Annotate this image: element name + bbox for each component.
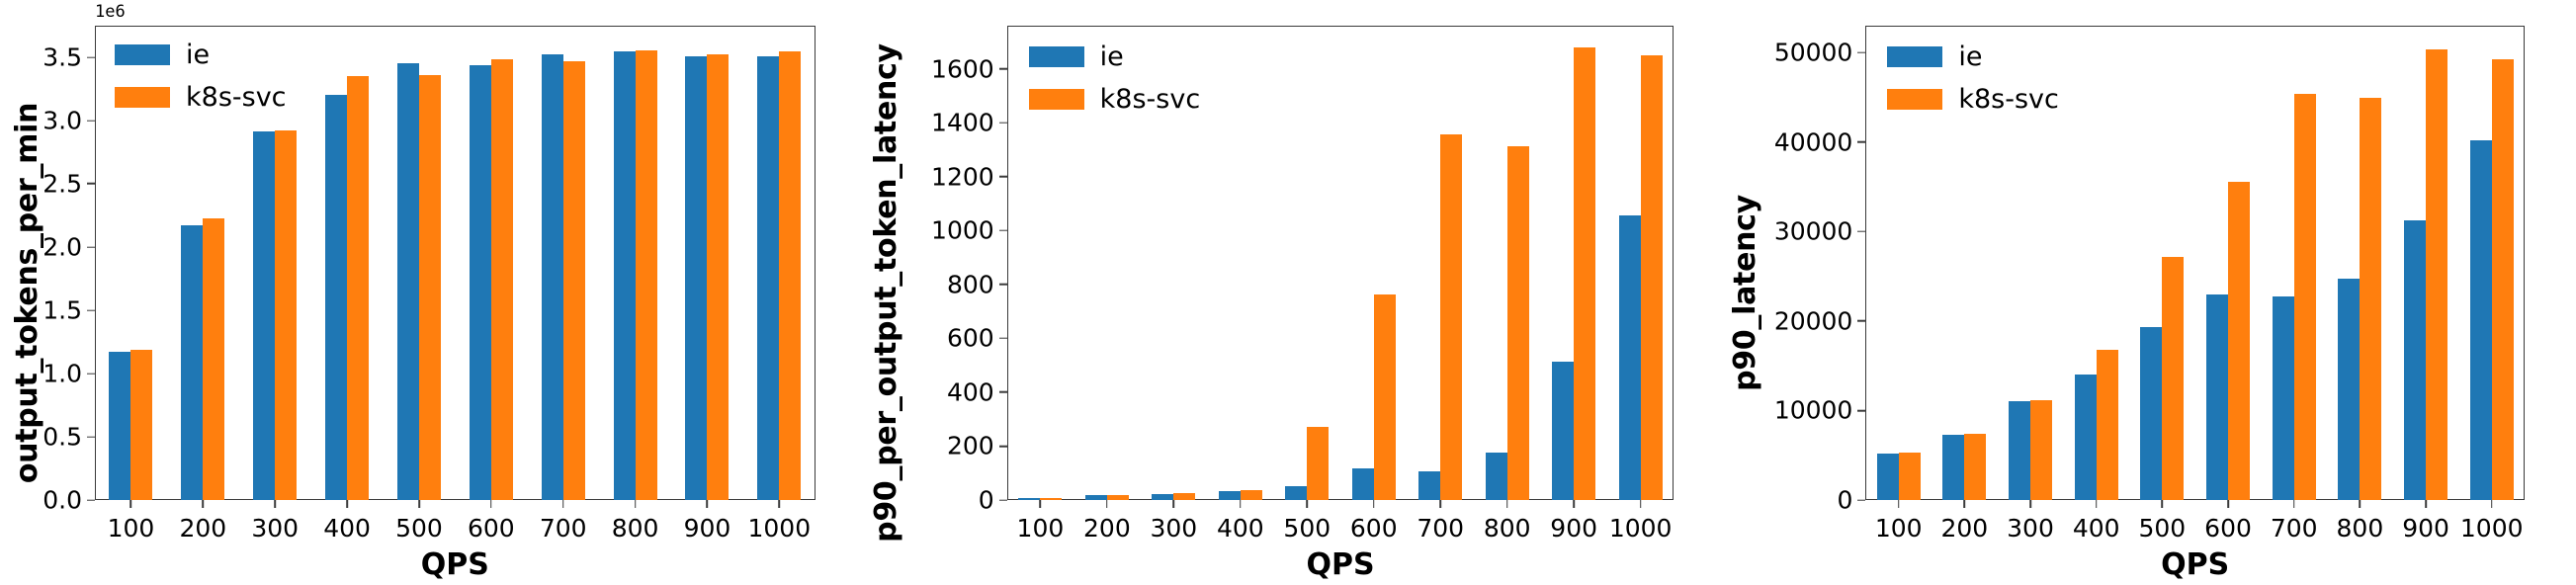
- y-tick-label: 0.0: [43, 486, 95, 515]
- y-tick-label: 50000: [1774, 39, 1866, 67]
- y-tick-label: 1600: [931, 54, 1007, 83]
- x-tick-label: 700: [527, 500, 599, 543]
- bar-group: [1407, 26, 1473, 500]
- y-axis-label: p90_per_output_token_latency: [859, 0, 914, 585]
- x-tick-label: 1000: [1607, 500, 1674, 543]
- bar-k8s-svc-1000[interactable]: [2492, 59, 2514, 500]
- panel-output-tokens-per-min: output_tokens_per_min 1e6 0.00.51.01.52.…: [0, 0, 859, 585]
- legend-swatch-ie: [1887, 46, 1942, 67]
- bar-ie-600[interactable]: [2206, 294, 2228, 500]
- bar-ie-200[interactable]: [1942, 435, 1964, 500]
- legend-label-ie: ie: [186, 40, 210, 70]
- y-tick-label: 0: [1837, 486, 1865, 515]
- x-axis-label-2: QPS: [1007, 547, 1674, 582]
- x-tick-label: 900: [671, 500, 743, 543]
- y-tick-label: 400: [947, 377, 1007, 406]
- x-tick-label: 1000: [2458, 500, 2525, 543]
- x-tick-label: 1000: [743, 500, 816, 543]
- bar-k8s-svc-600[interactable]: [491, 59, 513, 500]
- y-tick-label: 0.5: [43, 423, 95, 452]
- y-tick-label: 20000: [1774, 306, 1866, 335]
- bar-k8s-svc-300[interactable]: [2030, 400, 2052, 500]
- bar-group: [2327, 26, 2393, 500]
- panel-p90-latency: p90_latency 01000020000300004000050000 1…: [1717, 0, 2576, 585]
- bar-group: [1274, 26, 1340, 500]
- y-tick-label: 40000: [1774, 127, 1866, 156]
- plot-area-2: 02004006008001000120014001600 1002003004…: [1007, 26, 1674, 500]
- y-tick-label: 200: [947, 432, 1007, 460]
- bar-ie-500[interactable]: [1285, 486, 1307, 500]
- legend-entry-k8s-svc[interactable]: k8s-svc: [1029, 84, 1201, 115]
- bar-group: [2393, 26, 2459, 500]
- legend-label-k8s-svc: k8s-svc: [1958, 84, 2059, 115]
- bar-k8s-svc-300[interactable]: [275, 130, 297, 500]
- bar-k8s-svc-800[interactable]: [1507, 146, 1529, 500]
- bar-group: [2063, 26, 2129, 500]
- bar-group: [2129, 26, 2195, 500]
- bar-k8s-svc-500[interactable]: [419, 75, 441, 500]
- x-tick-label: 100: [1007, 500, 1073, 543]
- x-tick-label: 400: [311, 500, 384, 543]
- bar-ie-1000[interactable]: [1619, 215, 1641, 500]
- x-tick-label: 400: [1207, 500, 1273, 543]
- plot-area-1: 1e6 0.00.51.01.52.02.53.03.5 10020030040…: [95, 26, 816, 500]
- bar-k8s-svc-400[interactable]: [1241, 490, 1262, 500]
- bar-group: [2195, 26, 2262, 500]
- legend-swatch-ie: [115, 44, 170, 65]
- y-tick-label: 3.5: [43, 43, 95, 72]
- x-tick-labels-2: 1002003004005006007008009001000: [1007, 500, 1674, 543]
- x-tick-label: 500: [1274, 500, 1340, 543]
- x-tick-label: 700: [1407, 500, 1473, 543]
- y-tick-label: 600: [947, 324, 1007, 353]
- y-tick-label: 800: [947, 270, 1007, 298]
- legend-entry-ie[interactable]: ie: [115, 40, 287, 70]
- bar-group: [384, 26, 456, 500]
- bar-k8s-svc-700[interactable]: [563, 61, 585, 500]
- x-tick-label: 200: [167, 500, 239, 543]
- x-tick-labels-1: 1002003004005006007008009001000: [95, 500, 816, 543]
- x-tick-label: 300: [239, 500, 311, 543]
- bar-k8s-svc-200[interactable]: [1964, 434, 1986, 500]
- y-tick-label: 1.0: [43, 360, 95, 388]
- bar-ie-100[interactable]: [109, 352, 130, 500]
- bar-ie-600[interactable]: [470, 65, 491, 500]
- bar-group: [527, 26, 599, 500]
- x-tick-label: 600: [455, 500, 527, 543]
- bar-k8s-svc-100[interactable]: [1899, 453, 1921, 500]
- y-tick-label: 1.5: [43, 296, 95, 325]
- bar-ie-400[interactable]: [325, 95, 347, 500]
- y-tick-label: 3.0: [43, 107, 95, 135]
- bar-ie-200[interactable]: [181, 225, 203, 500]
- bar-group: [455, 26, 527, 500]
- x-tick-label: 900: [1540, 500, 1606, 543]
- bar-k8s-svc-900[interactable]: [707, 54, 729, 500]
- x-tick-label: 400: [2063, 500, 2129, 543]
- bar-group: [1340, 26, 1407, 500]
- y-tick-label: 2.0: [43, 233, 95, 262]
- legend-3: iek8s-svc: [1887, 42, 2059, 115]
- bar-group: [743, 26, 816, 500]
- x-tick-label: 800: [1474, 500, 1540, 543]
- y-axis-label-text: output_tokens_per_min: [11, 102, 45, 482]
- x-tick-label: 500: [384, 500, 456, 543]
- bar-k8s-svc-800[interactable]: [636, 50, 657, 500]
- bar-ie-400[interactable]: [1219, 491, 1241, 500]
- y-axis-label: p90_latency: [1717, 0, 1772, 585]
- bar-k8s-svc-400[interactable]: [2097, 350, 2118, 500]
- x-tick-label: 300: [1141, 500, 1207, 543]
- bar-ie-100[interactable]: [1877, 454, 1899, 500]
- bar-group: [671, 26, 743, 500]
- x-tick-labels-3: 1002003004005006007008009001000: [1865, 500, 2525, 543]
- bar-ie-700[interactable]: [1418, 471, 1440, 500]
- bar-group: [1474, 26, 1540, 500]
- legend-entry-ie[interactable]: ie: [1887, 42, 2059, 72]
- bar-group: [311, 26, 384, 500]
- x-tick-label: 900: [2393, 500, 2459, 543]
- bar-group: [1607, 26, 1674, 500]
- legend-label-k8s-svc: k8s-svc: [186, 82, 287, 113]
- x-tick-label: 500: [2129, 500, 2195, 543]
- panel-p90-per-output-token-latency: p90_per_output_token_latency 02004006008…: [859, 0, 1718, 585]
- bar-k8s-svc-600[interactable]: [1374, 294, 1396, 500]
- x-axis-label-1: QPS: [95, 547, 816, 582]
- x-tick-label: 600: [1340, 500, 1407, 543]
- x-tick-label: 600: [2195, 500, 2262, 543]
- bar-ie-900[interactable]: [1552, 362, 1574, 500]
- bar-k8s-svc-500[interactable]: [1307, 427, 1329, 500]
- bar-k8s-svc-400[interactable]: [347, 76, 369, 500]
- y-axis-label-text: p90_latency: [1728, 195, 1762, 391]
- x-tick-label: 700: [2261, 500, 2327, 543]
- bar-ie-800[interactable]: [614, 51, 636, 500]
- figure: output_tokens_per_min 1e6 0.00.51.01.52.…: [0, 0, 2576, 585]
- x-tick-label: 100: [95, 500, 167, 543]
- bar-ie-1000[interactable]: [757, 56, 779, 500]
- y-tick-label: 10000: [1774, 396, 1866, 425]
- x-tick-label: 800: [599, 500, 671, 543]
- x-tick-label: 200: [1073, 500, 1140, 543]
- bar-ie-1000[interactable]: [2470, 140, 2492, 500]
- bar-k8s-svc-500[interactable]: [2162, 257, 2184, 500]
- legend-swatch-k8s-svc: [1887, 89, 1942, 110]
- legend-1: iek8s-svc: [115, 40, 287, 113]
- x-axis-label-3: QPS: [1865, 547, 2525, 582]
- y-tick-label: 30000: [1774, 217, 1866, 246]
- bar-k8s-svc-1000[interactable]: [1641, 55, 1663, 500]
- bar-ie-300[interactable]: [253, 131, 275, 500]
- bar-k8s-svc-900[interactable]: [2426, 49, 2447, 500]
- bar-k8s-svc-600[interactable]: [2228, 182, 2250, 500]
- bar-ie-900[interactable]: [2404, 220, 2426, 500]
- bar-ie-600[interactable]: [1352, 468, 1374, 500]
- legend-entry-k8s-svc[interactable]: k8s-svc: [115, 82, 287, 113]
- legend-swatch-k8s-svc: [1029, 89, 1084, 110]
- bar-k8s-svc-1000[interactable]: [779, 51, 801, 500]
- bar-ie-900[interactable]: [685, 56, 707, 500]
- y-tick-label: 1400: [931, 109, 1007, 137]
- legend-entry-k8s-svc[interactable]: k8s-svc: [1887, 84, 2059, 115]
- x-tick-label: 300: [1998, 500, 2064, 543]
- legend-swatch-ie: [1029, 46, 1084, 67]
- bar-k8s-svc-100[interactable]: [130, 350, 152, 500]
- bar-ie-800[interactable]: [2338, 279, 2360, 500]
- y-axis-offset-text: 1e6: [95, 2, 126, 22]
- bar-ie-500[interactable]: [397, 63, 419, 500]
- legend-label-ie: ie: [1100, 42, 1124, 72]
- x-tick-label: 100: [1865, 500, 1932, 543]
- legend-2: iek8s-svc: [1029, 42, 1201, 115]
- y-tick-label: 2.5: [43, 169, 95, 198]
- legend-label-k8s-svc: k8s-svc: [1100, 84, 1201, 115]
- bar-k8s-svc-700[interactable]: [2294, 94, 2316, 500]
- y-axis-label-text: p90_per_output_token_latency: [869, 43, 903, 543]
- plot-area-3: 01000020000300004000050000 1002003004005…: [1865, 26, 2525, 500]
- bar-group: [2458, 26, 2525, 500]
- bar-group: [1540, 26, 1606, 500]
- bar-k8s-svc-200[interactable]: [203, 218, 224, 500]
- x-tick-label: 200: [1932, 500, 1998, 543]
- bar-ie-700[interactable]: [2273, 296, 2294, 500]
- bar-group: [599, 26, 671, 500]
- bar-group: [2261, 26, 2327, 500]
- y-tick-label: 1000: [931, 216, 1007, 245]
- bar-group: [1207, 26, 1273, 500]
- bar-ie-300[interactable]: [2009, 401, 2030, 500]
- bar-ie-700[interactable]: [542, 54, 563, 500]
- y-tick-label: 0: [979, 486, 1007, 515]
- bar-ie-500[interactable]: [2140, 327, 2162, 500]
- legend-label-ie: ie: [1958, 42, 1982, 72]
- legend-entry-ie[interactable]: ie: [1029, 42, 1201, 72]
- x-tick-label: 800: [2327, 500, 2393, 543]
- legend-swatch-k8s-svc: [115, 87, 170, 108]
- bar-k8s-svc-700[interactable]: [1440, 134, 1462, 500]
- bar-k8s-svc-800[interactable]: [2360, 98, 2381, 500]
- y-tick-label: 1200: [931, 162, 1007, 191]
- bar-ie-400[interactable]: [2075, 375, 2097, 500]
- bar-ie-800[interactable]: [1486, 453, 1507, 500]
- bar-k8s-svc-900[interactable]: [1574, 47, 1595, 500]
